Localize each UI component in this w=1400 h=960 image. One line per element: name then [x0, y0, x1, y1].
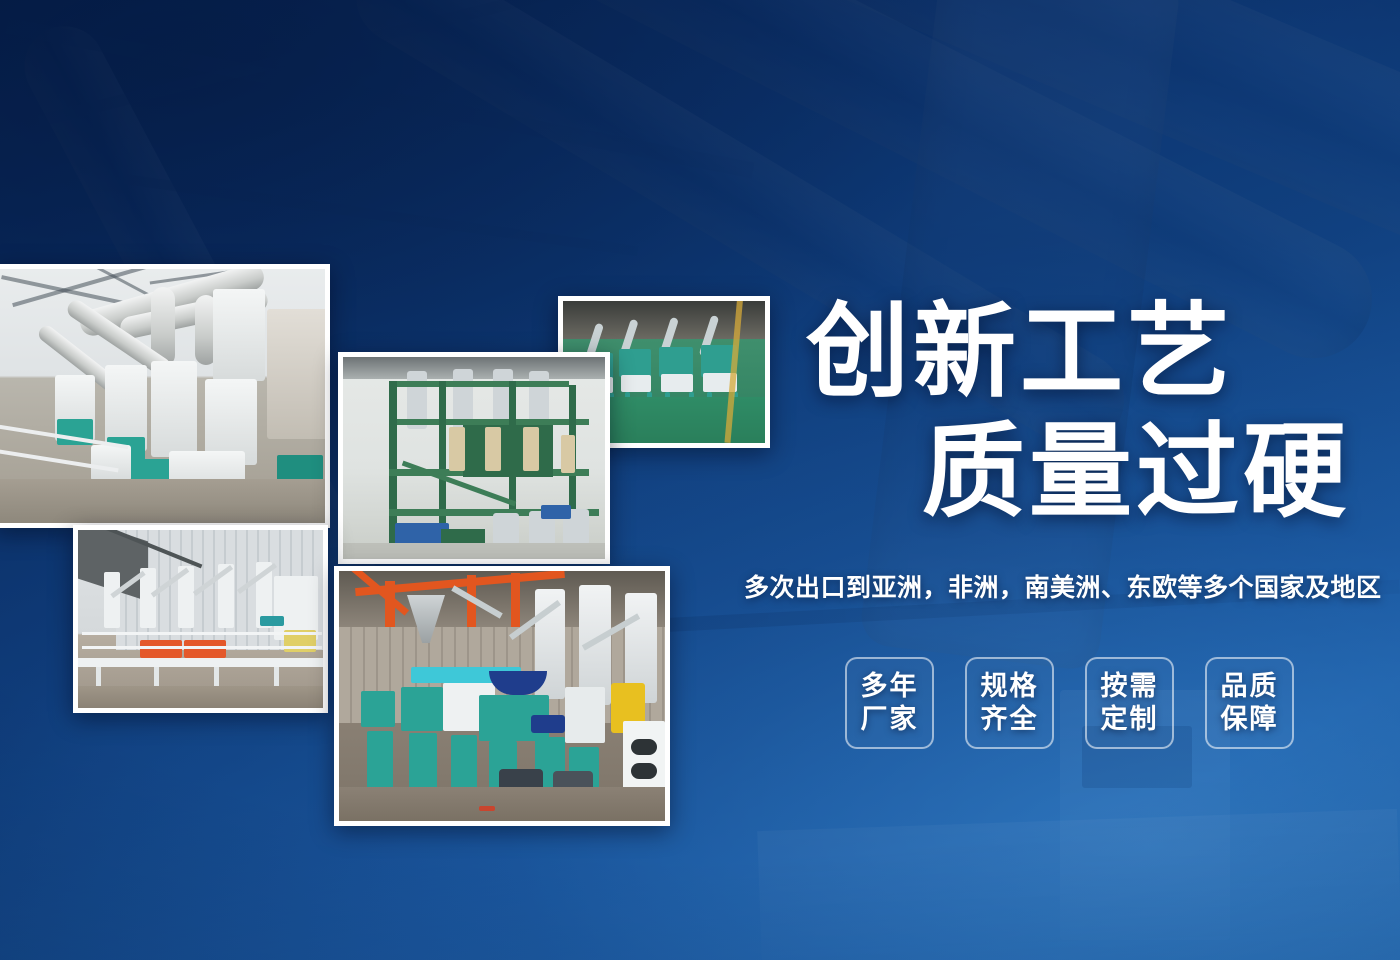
- headline-line-2: 质量过硬: [922, 416, 1350, 528]
- badge-line-1: 按需: [1101, 670, 1159, 703]
- badge-line-1: 规格: [981, 670, 1039, 703]
- badge-line-1: 多年: [861, 670, 919, 703]
- badge-line-1: 品质: [1221, 670, 1279, 703]
- photo-grain-cleaning-line[interactable]: [0, 264, 330, 528]
- photo-white-platform-line[interactable]: [73, 525, 328, 713]
- photo-teal-white-mill[interactable]: [334, 566, 670, 826]
- headline-line-1: 创新工艺: [806, 296, 1234, 408]
- badge-line-2: 定制: [1101, 703, 1159, 736]
- promo-banner: 创新工艺 质量过硬 多次出口到亚洲，非洲，南美洲、东欧等多个国家及地区 多年 厂…: [0, 0, 1400, 960]
- feature-badge-years-manufacturer[interactable]: 多年 厂家: [845, 657, 934, 749]
- badge-line-2: 保障: [1221, 703, 1279, 736]
- feature-badge-custom-made[interactable]: 按需 定制: [1085, 657, 1174, 749]
- photo-green-frame-mill[interactable]: [338, 352, 610, 564]
- feature-badge-list: 多年 厂家 规格 齐全 按需 定制 品质 保障: [845, 657, 1294, 749]
- subtitle: 多次出口到亚洲，非洲，南美洲、东欧等多个国家及地区: [744, 568, 1400, 604]
- feature-badge-quality-guarantee[interactable]: 品质 保障: [1205, 657, 1294, 749]
- badge-line-2: 厂家: [861, 703, 919, 736]
- feature-badge-full-specs[interactable]: 规格 齐全: [965, 657, 1054, 749]
- badge-line-2: 齐全: [981, 703, 1039, 736]
